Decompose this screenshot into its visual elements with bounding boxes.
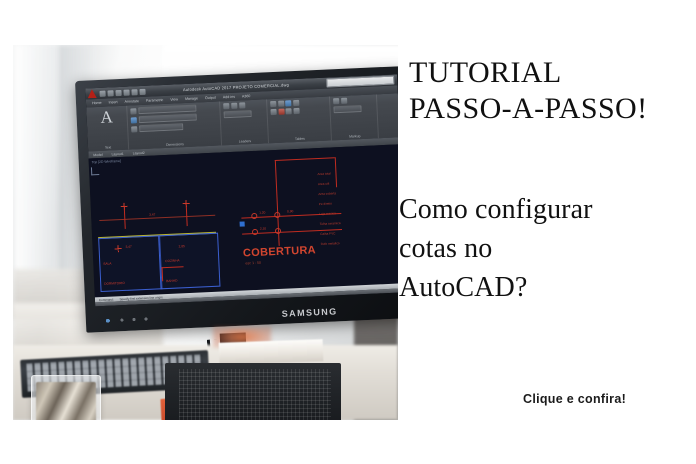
dimension-style-icon[interactable] <box>130 108 136 114</box>
cad-dimension-text: 3,47 <box>149 212 155 216</box>
cad-node <box>274 212 280 218</box>
cad-drawing-subtitle: esc 1 : 50 <box>245 261 261 266</box>
autocad-logo-icon <box>87 89 96 98</box>
markup-controls[interactable] <box>333 96 374 113</box>
cad-room-label: SALA <box>103 262 111 266</box>
table-export-icon[interactable] <box>293 107 299 113</box>
ribbon-tab-a360[interactable]: A360 <box>242 94 251 98</box>
glass-container <box>31 375 101 420</box>
new-icon[interactable] <box>99 90 105 96</box>
drawing-canvas[interactable]: Top [2D Wireframe] 1,20 2,10 0,90 <box>89 144 398 297</box>
cad-node <box>275 228 281 234</box>
cad-legend-item: Laje macica <box>319 211 336 216</box>
leader-row-1[interactable] <box>223 101 263 109</box>
cad-legend-item: Calha PVC <box>320 231 335 236</box>
background-pillar-left <box>15 45 59 280</box>
save-icon[interactable] <box>115 89 121 95</box>
markup-dropdown[interactable] <box>333 105 361 113</box>
cad-dimension-line <box>99 215 215 221</box>
ribbon-tab-parametric[interactable]: Parametric <box>146 98 164 103</box>
leader-style-dropdown[interactable] <box>224 110 252 118</box>
viewport-label: Top [2D Wireframe] <box>92 159 121 164</box>
cad-room-label: BANHO <box>166 279 178 284</box>
cad-legend-item: Pe direito <box>319 201 332 206</box>
dimension-layer-dropdown[interactable] <box>139 114 197 124</box>
ucs-icon <box>91 167 99 175</box>
leader-row-2[interactable] <box>224 109 264 118</box>
glass-container-contents <box>36 382 96 420</box>
cad-legend-item: Telha ceramica <box>320 221 341 226</box>
ribbon-tab-annotate[interactable]: Annotate <box>124 99 139 104</box>
layout-tab-layout1[interactable]: Layout1 <box>112 151 124 156</box>
cad-grip-point <box>240 221 245 226</box>
cad-legend-item: Area util <box>318 182 330 187</box>
leader-controls[interactable] <box>223 101 264 118</box>
cad-room-label: COZINHA <box>165 258 180 263</box>
pc-tower <box>165 363 341 420</box>
layout-tab-model[interactable]: Model <box>93 152 102 156</box>
table-merge-icon[interactable] <box>293 100 299 106</box>
dimension-controls[interactable] <box>130 104 217 133</box>
ribbon-tab-addins[interactable]: Add-ins <box>223 95 235 100</box>
cad-line <box>275 157 335 161</box>
cad-line <box>275 160 278 216</box>
cad-dimension-text: 1,20 <box>259 211 265 215</box>
revision-cloud-icon[interactable] <box>333 98 339 104</box>
paper-stack <box>219 339 324 365</box>
table-row-icon[interactable] <box>278 101 284 107</box>
cad-dimension-text: 2,85 <box>179 244 185 248</box>
ribbon-panel-markup[interactable]: Markup <box>330 94 379 140</box>
computer-monitor: SAMSUNG Autodesk AutoCAD 2017 PROJETO CO… <box>75 66 398 333</box>
headline: TUTORIAL PASSO-A-PASSO! <box>409 55 689 127</box>
dimension-scale-dropdown[interactable] <box>139 123 183 132</box>
table-field-icon[interactable] <box>285 108 291 114</box>
cad-legend-item: Rufo metalico <box>321 241 340 246</box>
ribbon-panel-tables[interactable]: Tables <box>267 96 332 143</box>
cad-legend-item: Area coberta <box>318 191 336 196</box>
poster-canvas: SAMSUNG Autodesk AutoCAD 2017 PROJETO CO… <box>0 0 696 464</box>
table-delete-icon[interactable] <box>278 108 284 114</box>
leader-align-icon[interactable] <box>239 102 245 108</box>
monitor-screen: Autodesk AutoCAD 2017 PROJETO COMERCIAL.… <box>85 74 398 306</box>
ribbon-tab-manage[interactable]: Manage <box>185 96 198 101</box>
table-insert-icon[interactable] <box>270 101 276 107</box>
ribbon-tab-output[interactable]: Output <box>205 96 216 100</box>
cad-drawing-title: COBERTURA <box>243 244 316 259</box>
quick-access-toolbar[interactable] <box>99 88 145 96</box>
cad-symbol <box>114 245 121 252</box>
ribbon-tab-insert[interactable]: Insert <box>109 100 118 104</box>
text-style-icon[interactable]: A <box>89 108 124 127</box>
ribbon-panel-dimensions[interactable]: Dimensions <box>127 101 222 149</box>
cad-dimension-text: 0,90 <box>287 209 293 213</box>
table-style-icon[interactable] <box>270 108 276 114</box>
ribbon-panel-leaders[interactable]: Leaders <box>220 99 269 145</box>
open-icon[interactable] <box>107 90 113 96</box>
markup-row-2[interactable] <box>333 104 373 113</box>
ribbon-panel-text[interactable]: A Text <box>86 106 129 152</box>
leader-add-icon[interactable] <box>231 103 237 109</box>
ribbon-tab-home[interactable]: Home <box>92 101 102 105</box>
linear-dimension-icon[interactable] <box>131 117 137 123</box>
table-tools-grid[interactable] <box>270 99 327 115</box>
print-icon[interactable] <box>123 89 129 95</box>
wipeout-icon[interactable] <box>341 98 347 104</box>
pc-tower-mesh <box>179 369 331 420</box>
dimension-row-3[interactable] <box>131 122 217 133</box>
ribbon-tab-view[interactable]: View <box>170 97 178 101</box>
markup-row-1[interactable] <box>333 96 373 104</box>
dimension-scale-icon[interactable] <box>131 126 137 132</box>
cad-node <box>251 213 257 219</box>
dimension-style-dropdown[interactable] <box>138 105 196 115</box>
multileader-icon[interactable] <box>223 103 229 109</box>
layout-tab-layout2[interactable]: Layout2 <box>133 150 145 155</box>
undo-icon[interactable] <box>131 89 137 95</box>
cta-label[interactable]: Clique e confira! <box>523 392 626 406</box>
cad-dimension-text: 3,47 <box>125 245 131 249</box>
hero-photo: SAMSUNG Autodesk AutoCAD 2017 PROJETO CO… <box>13 45 398 420</box>
subheadline: Como configurar cotas no AutoCAD? <box>399 190 689 307</box>
cad-dimension-text: 2,10 <box>260 226 266 230</box>
cad-line <box>335 157 337 187</box>
cad-legend-item: Area total <box>317 171 330 176</box>
table-column-icon[interactable] <box>285 100 291 106</box>
cad-node <box>252 229 258 235</box>
